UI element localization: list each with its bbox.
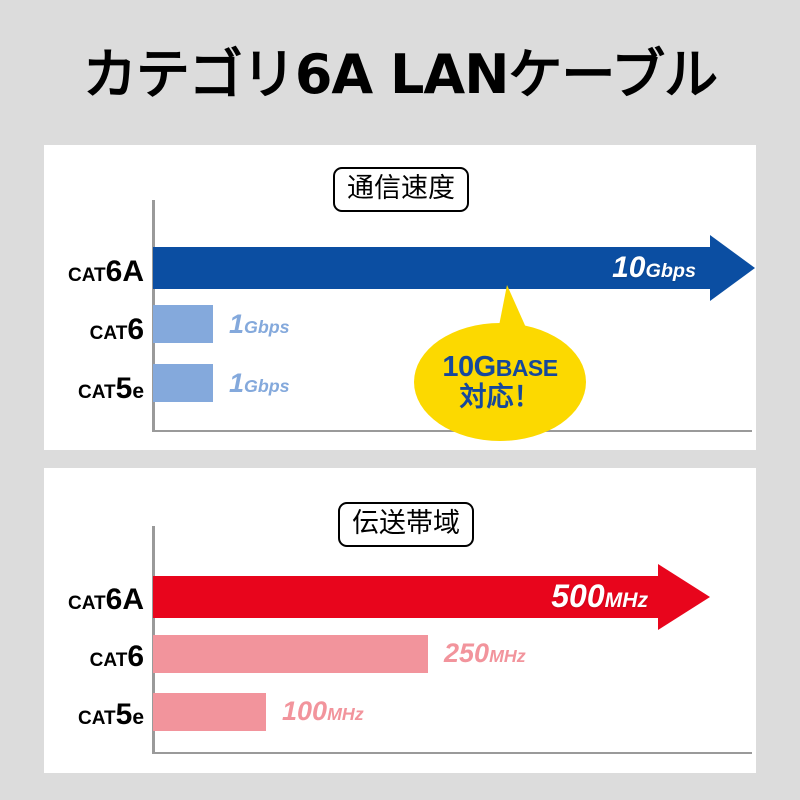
cat-prefix: CAT bbox=[68, 593, 106, 614]
cat-prefix: CAT bbox=[90, 650, 128, 671]
cat-suffix: A bbox=[122, 583, 144, 616]
category-label-cat5e-band: CAT5e bbox=[44, 700, 144, 734]
bar-value-cat6-band: 250MHz bbox=[444, 638, 526, 671]
chart-badge-band: 伝送帯域 bbox=[338, 502, 474, 547]
bar-cat6a-band: 500MHz bbox=[153, 576, 658, 618]
bar-cat6-speed bbox=[153, 305, 213, 343]
infographic-page: カテゴリ6A LANケーブル 通信速度 CAT6A CAT6 CAT5e bbox=[0, 0, 800, 800]
value-unit: Gbps bbox=[244, 317, 290, 337]
callout-line1: 10GBASE bbox=[442, 352, 557, 383]
cat-main: 5 bbox=[116, 372, 133, 405]
chart-card-band: 伝送帯域 CAT6A CAT6 CAT5e 500MHz bbox=[44, 468, 756, 773]
cat-main: 6 bbox=[106, 583, 123, 616]
callout-line2: 対応！ bbox=[460, 383, 541, 413]
arrow-head-icon bbox=[658, 564, 710, 630]
category-label-cat6a-band: CAT6A bbox=[44, 585, 144, 619]
cat-suffix: A bbox=[122, 255, 144, 288]
value-unit: MHz bbox=[327, 704, 364, 724]
value-unit: MHz bbox=[605, 589, 648, 612]
chart-card-speed: 通信速度 CAT6A CAT6 CAT5e 10Gbps bbox=[44, 145, 756, 450]
page-title: カテゴリ6A LANケーブル bbox=[0, 44, 800, 106]
bar-cat6-band bbox=[153, 635, 428, 673]
arrow-head-icon bbox=[710, 235, 755, 301]
value-number: 10 bbox=[612, 251, 645, 284]
cat-main: 5 bbox=[116, 698, 133, 731]
bar-value-cat5e-speed: 1Gbps bbox=[229, 368, 290, 401]
callout-line1-small: BASE bbox=[496, 355, 558, 381]
cat-main: 6 bbox=[127, 313, 144, 346]
chart-badge-speed: 通信速度 bbox=[333, 167, 469, 212]
value-unit: Gbps bbox=[244, 376, 290, 396]
value-number: 1 bbox=[229, 368, 244, 398]
category-label-cat5e-speed: CAT5e bbox=[44, 374, 144, 408]
value-number: 100 bbox=[282, 696, 327, 726]
value-unit: MHz bbox=[489, 646, 526, 666]
cat-suffix: e bbox=[132, 706, 144, 729]
bar-cat6a-speed: 10Gbps bbox=[153, 247, 710, 289]
x-axis-baseline-band bbox=[152, 752, 752, 754]
callout-10gbase: 10GBASE 対応！ bbox=[414, 323, 586, 441]
cat-prefix: CAT bbox=[90, 323, 128, 344]
cat-suffix: e bbox=[132, 380, 144, 403]
value-number: 500 bbox=[551, 578, 604, 614]
cat-prefix: CAT bbox=[78, 382, 116, 403]
cat-prefix: CAT bbox=[78, 708, 116, 729]
bar-cat5e-band bbox=[153, 693, 266, 731]
bar-value-cat6a-band: 500MHz bbox=[551, 578, 648, 619]
category-label-cat6-band: CAT6 bbox=[44, 642, 144, 676]
value-number: 250 bbox=[444, 638, 489, 668]
bar-value-cat5e-band: 100MHz bbox=[282, 696, 364, 729]
bar-value-cat6-speed: 1Gbps bbox=[229, 309, 290, 342]
plot-area-band: 伝送帯域 CAT6A CAT6 CAT5e 500MHz bbox=[44, 468, 756, 773]
cat-main: 6 bbox=[127, 640, 144, 673]
bar-cat5e-speed bbox=[153, 364, 213, 402]
value-unit: Gbps bbox=[645, 260, 696, 282]
callout-line1-big: 10G bbox=[442, 351, 495, 383]
bar-value-cat6a-speed: 10Gbps bbox=[612, 251, 696, 288]
plot-area-speed: 通信速度 CAT6A CAT6 CAT5e 10Gbps bbox=[44, 145, 756, 450]
category-label-cat6a-speed: CAT6A bbox=[44, 257, 144, 291]
value-number: 1 bbox=[229, 309, 244, 339]
cat-prefix: CAT bbox=[68, 265, 106, 286]
category-label-cat6-speed: CAT6 bbox=[44, 315, 144, 349]
cat-main: 6 bbox=[106, 255, 123, 288]
